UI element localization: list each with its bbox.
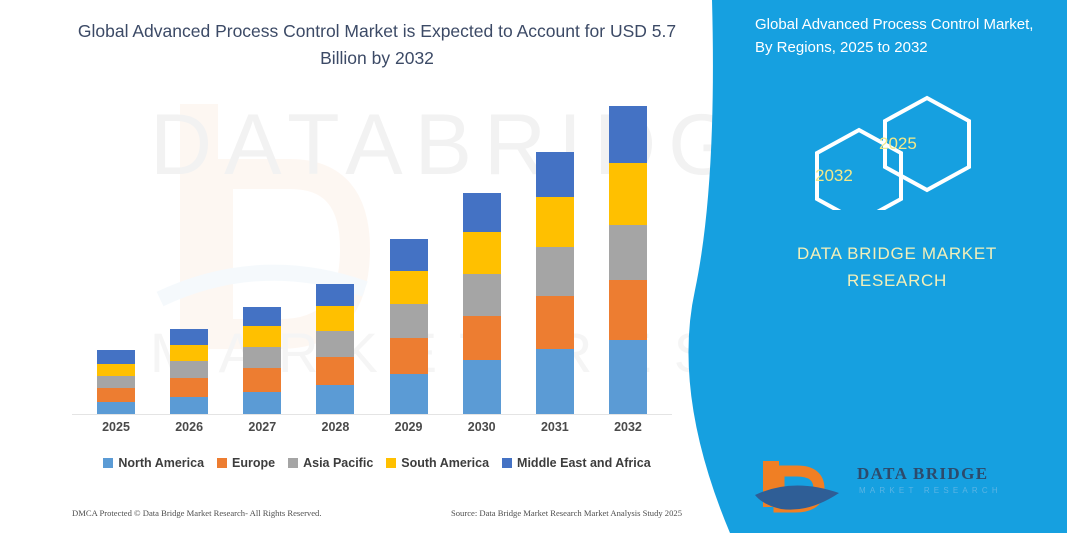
footer-copyright: DMCA Protected © Data Bridge Market Rese… (72, 508, 322, 518)
legend-swatch (103, 458, 113, 468)
x-axis-tick: 2030 (452, 420, 512, 434)
logo-subtitle: MARKET RESEARCH (859, 486, 1002, 495)
legend-label: Europe (232, 456, 275, 470)
x-axis-tick: 2029 (379, 420, 439, 434)
x-axis-tick: 2027 (232, 420, 292, 434)
hexagon-2032-label: 2032 (815, 166, 853, 186)
x-axis-tick: 2032 (598, 420, 658, 434)
stacked-bar[interactable] (97, 350, 135, 414)
legend-swatch (288, 458, 298, 468)
bar-segment[interactable] (243, 368, 281, 391)
bar-segment[interactable] (316, 385, 354, 414)
hexagon-2025-label: 2025 (879, 134, 917, 154)
bar-segment[interactable] (97, 402, 135, 414)
chart-legend: North AmericaEuropeAsia PacificSouth Ame… (72, 456, 682, 470)
footer: DMCA Protected © Data Bridge Market Rese… (72, 508, 682, 518)
data-bridge-logo: DATA BRIDGE MARKET RESEARCH (749, 455, 1049, 517)
bar-segment[interactable] (463, 193, 501, 232)
chart-title: Global Advanced Process Control Market i… (62, 18, 692, 72)
stacked-bar[interactable] (536, 152, 574, 414)
legend-swatch (386, 458, 396, 468)
bar-group (86, 102, 146, 414)
bar-segment[interactable] (97, 364, 135, 376)
chart-area (72, 100, 672, 415)
bar-group (232, 102, 292, 414)
legend-item[interactable]: Middle East and Africa (502, 456, 651, 470)
bar-group (305, 102, 365, 414)
infographic-root: DATABRIDGE MARKET RESEARCH Global Advanc… (0, 0, 1067, 533)
data-bridge-mark-icon (749, 455, 849, 515)
bar-group (159, 102, 219, 414)
brand-name: DATA BRIDGE MARKET RESEARCH (747, 240, 1047, 294)
footer-source: Source: Data Bridge Market Research Mark… (451, 508, 682, 518)
bar-segment[interactable] (316, 357, 354, 385)
bar-segment[interactable] (170, 345, 208, 362)
legend-label: North America (118, 456, 204, 470)
bar-segment[interactable] (97, 350, 135, 363)
bar-segment[interactable] (316, 306, 354, 332)
bar-segment[interactable] (390, 239, 428, 271)
stacked-bar[interactable] (243, 307, 281, 414)
bar-segment[interactable] (463, 360, 501, 414)
bar-segment[interactable] (609, 106, 647, 163)
bar-segment[interactable] (463, 316, 501, 361)
stacked-bar[interactable] (316, 284, 354, 414)
bar-segment[interactable] (390, 271, 428, 305)
bar-group (379, 102, 439, 414)
stacked-bar[interactable] (609, 106, 647, 414)
panel-title: Global Advanced Process Control Market, … (755, 14, 1045, 59)
bar-segment[interactable] (316, 284, 354, 305)
x-axis-tick: 2026 (159, 420, 219, 434)
bar-segment[interactable] (609, 280, 647, 340)
hexagon-group: 2025 2032 (787, 90, 1037, 210)
bar-segment[interactable] (316, 331, 354, 357)
x-axis-labels: 20252026202720282029203020312032 (72, 420, 672, 434)
bar-segment[interactable] (536, 247, 574, 295)
bar-group (598, 102, 658, 414)
bar-segment[interactable] (97, 376, 135, 388)
stacked-bar-plot (72, 102, 672, 415)
bar-segment[interactable] (609, 225, 647, 280)
bar-segment[interactable] (536, 349, 574, 414)
legend-item[interactable]: North America (103, 456, 204, 470)
bar-segment[interactable] (536, 296, 574, 350)
legend-label: South America (401, 456, 489, 470)
stacked-bar[interactable] (463, 193, 501, 414)
stacked-bar[interactable] (390, 239, 428, 414)
legend-label: Middle East and Africa (517, 456, 651, 470)
bar-segment[interactable] (536, 197, 574, 247)
bar-segment[interactable] (609, 340, 647, 414)
bar-segment[interactable] (390, 304, 428, 338)
x-axis-tick: 2031 (525, 420, 585, 434)
x-axis-tick: 2025 (86, 420, 146, 434)
bar-group (525, 102, 585, 414)
bar-segment[interactable] (170, 329, 208, 345)
x-axis-tick: 2028 (305, 420, 365, 434)
bar-group (452, 102, 512, 414)
bar-segment[interactable] (390, 338, 428, 374)
bar-segment[interactable] (243, 347, 281, 368)
bar-segment[interactable] (243, 307, 281, 326)
bar-segment[interactable] (243, 392, 281, 414)
bar-segment[interactable] (243, 326, 281, 347)
bar-segment[interactable] (170, 361, 208, 378)
bar-segment[interactable] (463, 232, 501, 274)
logo-title: DATA BRIDGE (857, 464, 988, 484)
legend-label: Asia Pacific (303, 456, 373, 470)
bar-segment[interactable] (97, 388, 135, 401)
bar-segment[interactable] (390, 374, 428, 414)
legend-item[interactable]: Asia Pacific (288, 456, 373, 470)
legend-swatch (502, 458, 512, 468)
bar-segment[interactable] (536, 152, 574, 197)
bar-segment[interactable] (463, 274, 501, 315)
blue-panel: Global Advanced Process Control Market, … (727, 0, 1067, 533)
bar-segment[interactable] (170, 378, 208, 397)
legend-item[interactable]: South America (386, 456, 489, 470)
legend-swatch (217, 458, 227, 468)
bar-segment[interactable] (170, 397, 208, 414)
bar-segment[interactable] (609, 163, 647, 226)
legend-item[interactable]: Europe (217, 456, 275, 470)
stacked-bar[interactable] (170, 329, 208, 414)
